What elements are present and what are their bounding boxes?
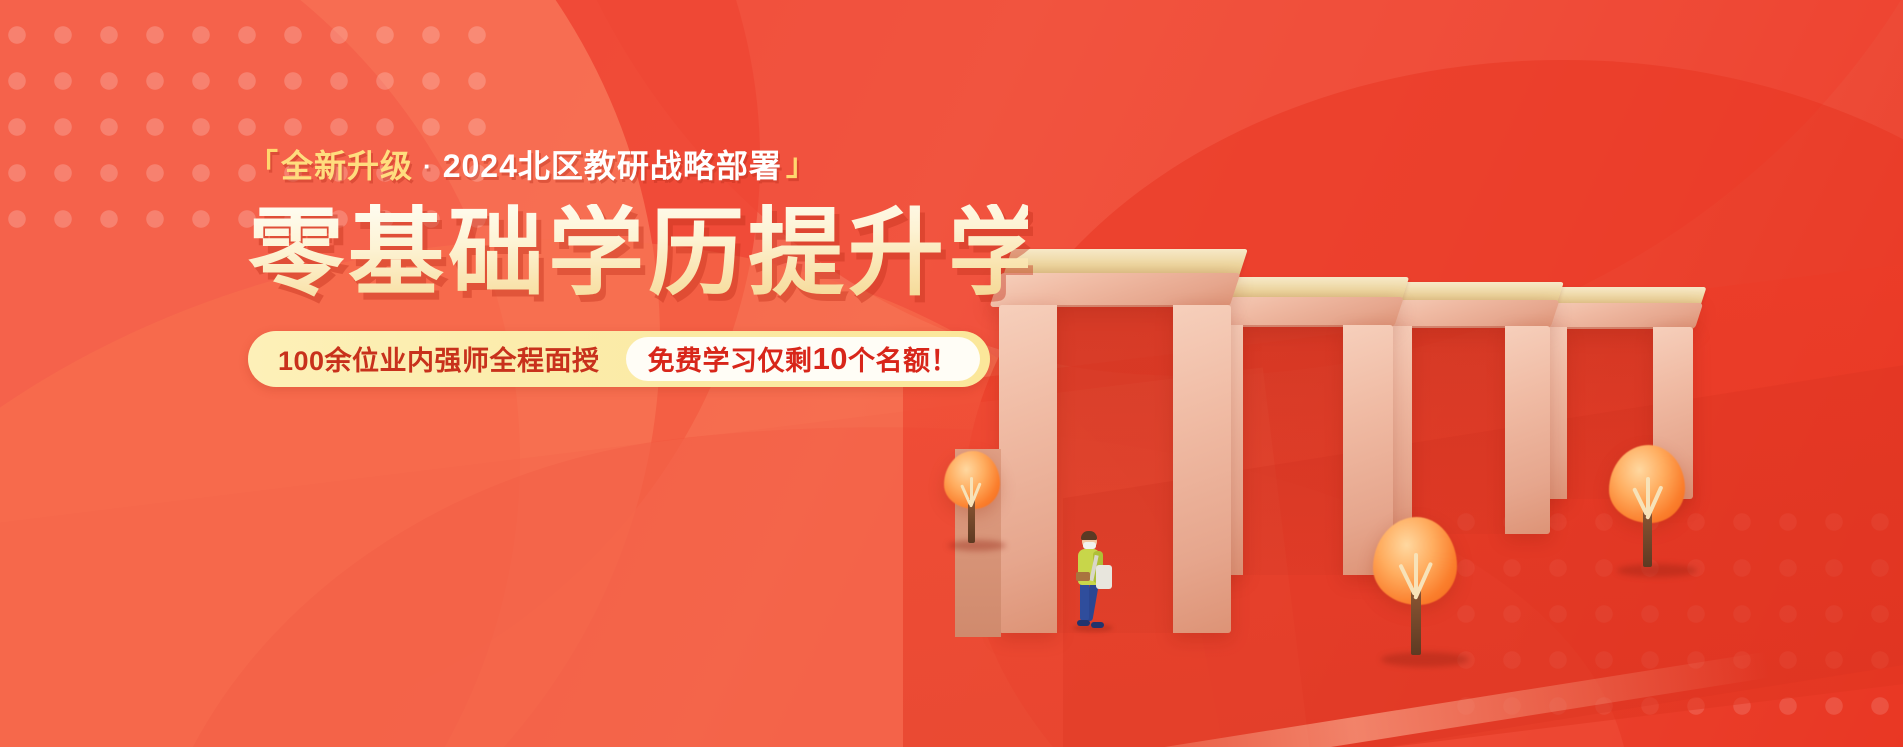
promo-banner: 「 全新升级 · 2024北区教研战略部署 」 零基础学历提升学霸班 100余位… [0, 0, 1903, 747]
page-title: 零基础学历提升学霸班 [248, 204, 1028, 305]
bracket-close: 」 [786, 151, 817, 181]
offer-pill-left-text: 100余位业内强师全程面授 [278, 339, 626, 378]
banner-text-block: 「 全新升级 · 2024北区教研战略部署 」 零基础学历提升学霸班 100余位… [248, 150, 1028, 387]
illustration-books-and-trees [943, 0, 1903, 747]
bracket-open: 「 [248, 151, 279, 181]
offer-pill-badge[interactable]: 免费学习仅剩10个名额！ [626, 337, 980, 381]
subtitle-separator: · [413, 153, 443, 179]
tree-right [1603, 445, 1691, 577]
offer-seats-count: 10 [813, 341, 848, 377]
student-walking-figure [1069, 509, 1129, 629]
tree-left [938, 451, 1004, 551]
subtitle-rest: 2024北区教研战略部署 [443, 150, 782, 182]
offer-pill[interactable]: 100余位业内强师全程面授 免费学习仅剩10个名额！ [248, 331, 990, 387]
subtitle-highlight: 全新升级 [281, 150, 413, 182]
offer-suffix: 个名额！ [848, 339, 958, 378]
offer-prefix: 免费学习仅剩 [648, 339, 813, 378]
banner-subtitle: 「 全新升级 · 2024北区教研战略部署 」 [248, 150, 1028, 182]
tree-mid [1367, 517, 1463, 667]
